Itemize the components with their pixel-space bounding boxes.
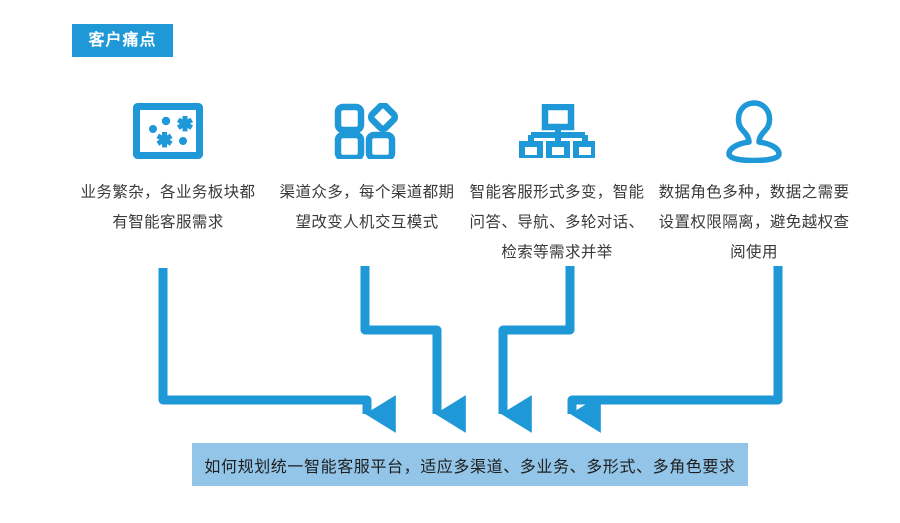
pain-point-column-1: 业务繁杂，各业务板块都有智能客服需求 xyxy=(74,92,262,238)
scattered-items-board-icon xyxy=(133,103,203,159)
pain-point-icon-wrap-1 xyxy=(74,92,262,170)
section-title-label: 客户痛点 xyxy=(88,32,156,49)
slide-canvas: 客户痛点 xyxy=(0,0,900,523)
hierarchy-org-chart-icon xyxy=(519,104,595,158)
pain-point-text-4: 数据角色多种，数据之需要设置权限隔离，避免越权查阅使用 xyxy=(658,178,850,268)
section-title-badge: 客户痛点 xyxy=(72,24,173,57)
summary-banner: 如何规划统一智能客服平台，适应多渠道、多业务、多形式、多角色要求 xyxy=(192,443,748,486)
pain-point-text-2: 渠道众多，每个渠道都期望改变人机交互模式 xyxy=(272,178,462,238)
pain-point-icon-wrap-4 xyxy=(658,92,850,170)
connector-path-2 xyxy=(365,266,437,414)
pain-point-icon-wrap-3 xyxy=(462,92,652,170)
user-person-icon xyxy=(725,99,783,163)
pain-point-text-1: 业务繁杂，各业务板块都有智能客服需求 xyxy=(74,178,262,238)
summary-banner-label: 如何规划统一智能客服平台，适应多渠道、多业务、多形式、多角色要求 xyxy=(204,453,735,477)
pain-point-column-3: 智能客服形式多变，智能问答、导航、多轮对话、检索等需求并举 xyxy=(462,92,652,268)
connector-path-4 xyxy=(572,266,778,414)
pain-point-column-2: 渠道众多，每个渠道都期望改变人机交互模式 xyxy=(272,92,462,238)
pain-point-icon-wrap-2 xyxy=(272,92,462,170)
connector-path-3 xyxy=(503,266,570,414)
pain-point-column-4: 数据角色多种，数据之需要设置权限隔离，避免越权查阅使用 xyxy=(658,92,850,268)
connector-path-1 xyxy=(163,268,367,414)
multi-channel-blocks-icon xyxy=(334,103,400,159)
pain-point-text-3: 智能客服形式多变，智能问答、导航、多轮对话、检索等需求并举 xyxy=(462,178,652,268)
